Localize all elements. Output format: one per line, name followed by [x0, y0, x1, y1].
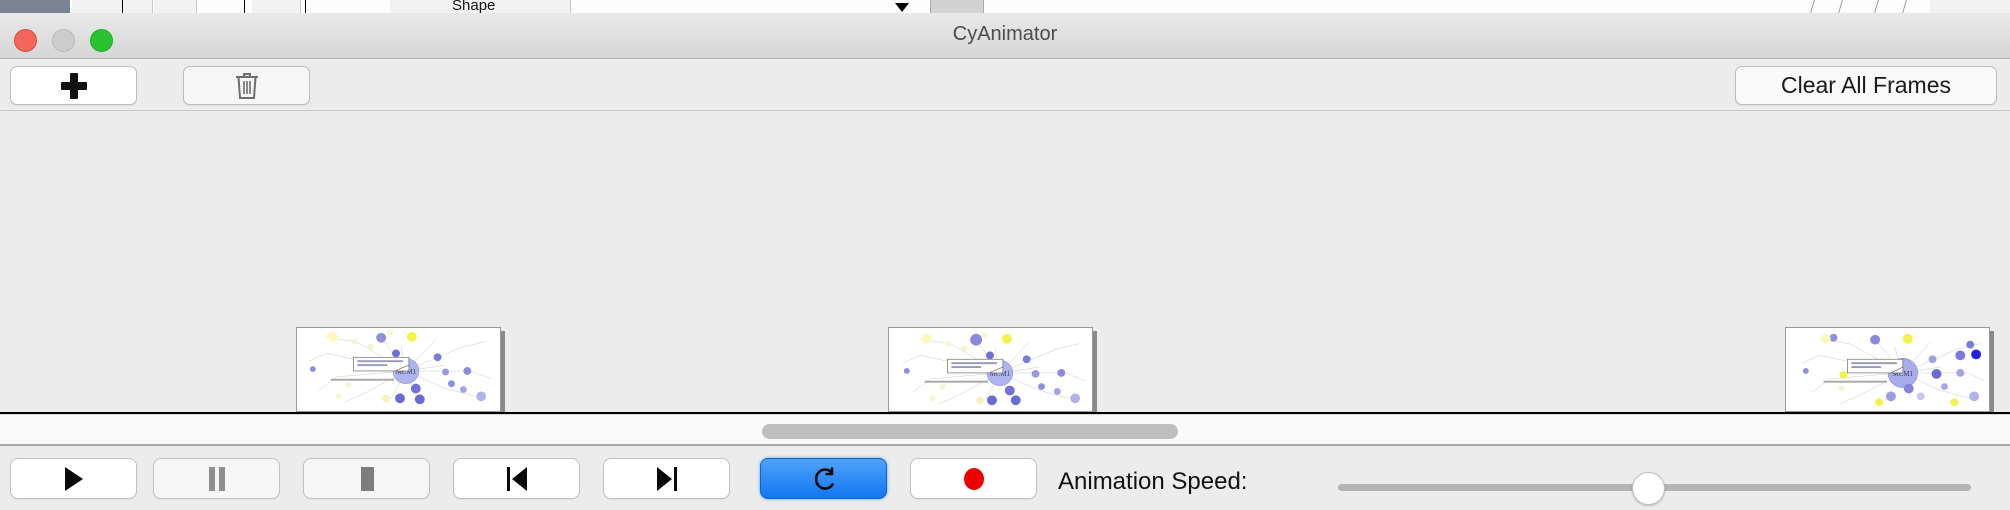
background-column-last: [1930, 0, 2010, 13]
background-divider-3: [305, 0, 306, 13]
background-divider-1: [122, 0, 123, 13]
frame-toolbar: Clear All Frames: [0, 59, 2010, 111]
background-selected-column: [930, 0, 984, 13]
clear-all-frames-button[interactable]: Clear All Frames: [1735, 66, 1997, 105]
network-thumbnail-icon: MCM1: [1786, 328, 1989, 411]
play-icon: [63, 466, 85, 492]
background-column-3: [252, 0, 301, 13]
background-slash-4: [1902, 0, 1907, 13]
background-slash-3: [1874, 0, 1879, 13]
stop-icon: [356, 466, 378, 492]
animation-speed-label: Animation Speed:: [1058, 468, 1247, 496]
record-icon: [961, 466, 987, 492]
network-thumbnail-icon: MCM1: [297, 328, 500, 411]
animation-speed-slider-thumb[interactable]: [1632, 472, 1665, 505]
background-column-2: [154, 0, 197, 13]
background-window-sidebar: [0, 0, 70, 13]
background-divider-2: [244, 0, 245, 13]
background-column-1: [72, 0, 153, 13]
timeline-scrollbar[interactable]: [0, 414, 2010, 446]
plus-icon: [61, 73, 87, 99]
background-sort-caret-icon: [895, 3, 909, 12]
skip-back-icon: [505, 466, 529, 492]
background-column-header-shape: Shape: [452, 0, 495, 14]
pause-icon: [206, 466, 228, 492]
background-slash-1: [1810, 0, 1815, 13]
delete-frame-button[interactable]: [183, 66, 310, 105]
timeline-panel[interactable]: MCM1: [0, 112, 2010, 414]
timeline-frame-thumbnail[interactable]: MCM1: [296, 327, 501, 412]
background-window-strip: Shape: [0, 0, 2010, 14]
trash-icon: [234, 71, 260, 100]
timeline-frame-thumbnail[interactable]: MCM1: [1785, 327, 1990, 412]
stop-button[interactable]: [303, 458, 430, 499]
timeline-frame-thumbnail[interactable]: MCM1: [888, 327, 1093, 412]
pause-button[interactable]: [153, 458, 280, 499]
skip-start-button[interactable]: [453, 458, 580, 499]
skip-end-button[interactable]: [603, 458, 730, 499]
loop-button[interactable]: [760, 458, 887, 499]
network-thumbnail-icon: MCM1: [889, 328, 1092, 411]
window-title: CyAnimator: [0, 23, 2010, 46]
loop-icon: [812, 466, 836, 492]
scrollbar-thumb[interactable]: [762, 424, 1178, 439]
title-bar[interactable]: CyAnimator: [0, 13, 2010, 59]
background-slash-2: [1838, 0, 1843, 13]
play-button[interactable]: [10, 458, 137, 499]
playback-control-bar: Animation Speed:: [0, 448, 2010, 510]
add-frame-button[interactable]: [10, 66, 137, 105]
skip-forward-icon: [655, 466, 679, 492]
record-button[interactable]: [910, 458, 1037, 499]
cyanimator-window: Shape CyAnimator: [0, 0, 2010, 510]
